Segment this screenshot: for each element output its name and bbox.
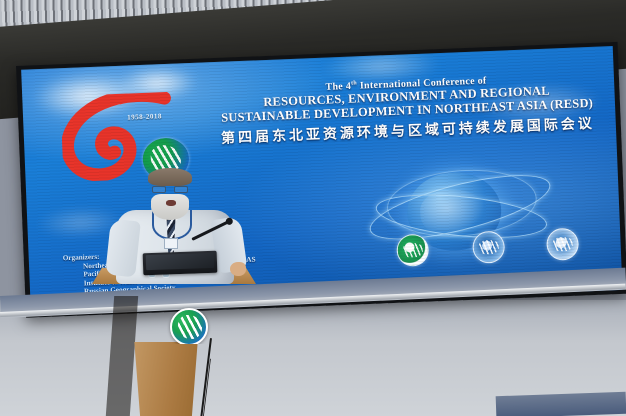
presenter-left-arm: [105, 219, 141, 278]
presenter-beard: [151, 194, 189, 220]
institution-seal-green-icon: [396, 234, 429, 267]
presenter-hair: [148, 168, 192, 186]
podium-cable: [199, 338, 212, 416]
wall-blue-accent: [496, 392, 626, 416]
title-ordinal-suffix: th: [351, 80, 357, 86]
presenter-mouth: [166, 200, 176, 206]
institution-logo-row: [396, 227, 597, 269]
anniversary-label: 1958-2018: [127, 112, 162, 121]
institution-seal-blue-icon: [472, 231, 505, 264]
podium-front-panel: [86, 282, 262, 344]
presenter-laptop: [143, 251, 218, 276]
presenter-badge: [164, 238, 178, 249]
podium-institution-logo-icon: [170, 308, 208, 346]
institution-seal-light-icon: [546, 228, 579, 261]
conference-room-scene: 1958-2018 The 4th International Conferen…: [0, 0, 626, 416]
slide-title-block: The 4th International Conference of RESO…: [200, 70, 614, 149]
presenter-right-hand: [230, 262, 246, 276]
podium-column: [130, 342, 202, 416]
speaker-podium: [84, 268, 262, 416]
presenter-eyeglasses-icon: [152, 186, 188, 193]
